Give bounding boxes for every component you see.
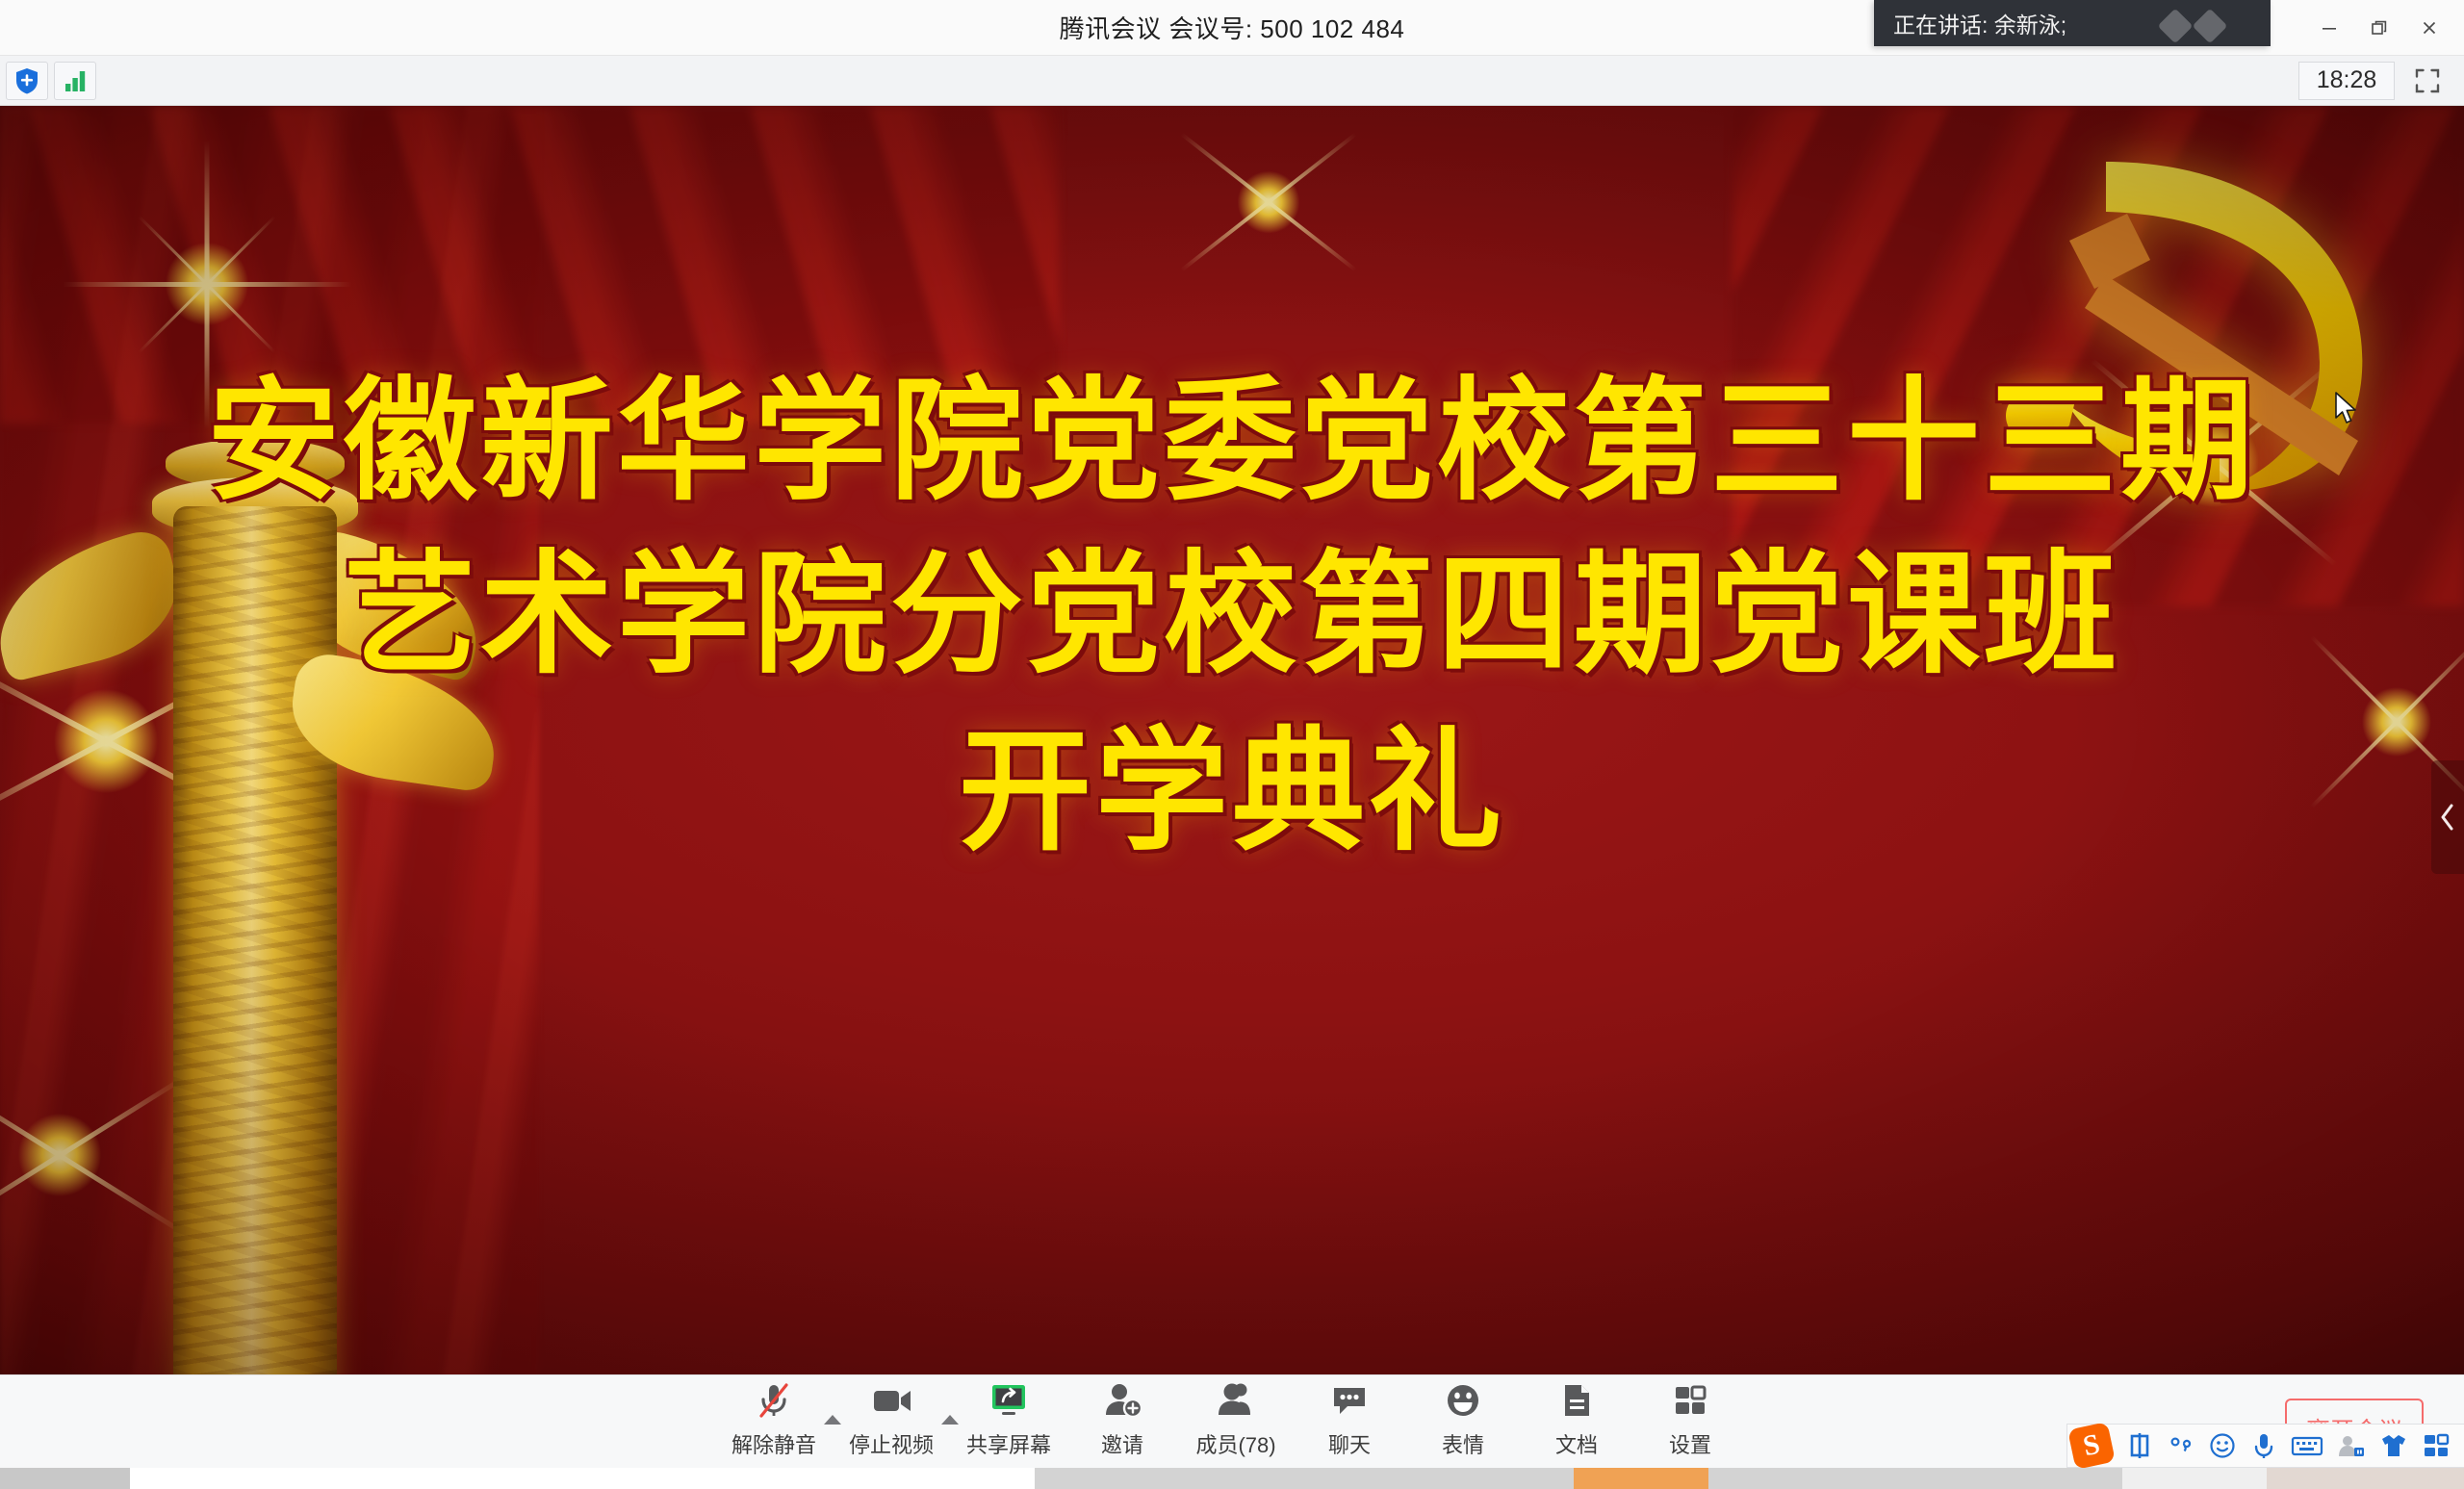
emoji-smile-icon: [1442, 1379, 1484, 1422]
close-button[interactable]: [2404, 3, 2454, 53]
taskbar-window-preview[interactable]: [130, 1468, 1035, 1489]
sub-toolbar-left: [0, 62, 96, 100]
video-camera-icon: [869, 1379, 913, 1422]
user-center-icon[interactable]: [2337, 1432, 2366, 1459]
tencent-meeting-logo: [2155, 4, 2242, 44]
side-panel-collapse-handle[interactable]: [2431, 760, 2464, 874]
toolbox-icon[interactable]: [2422, 1432, 2451, 1459]
restore-button[interactable]: [2354, 3, 2404, 53]
document-icon: [1555, 1379, 1598, 1422]
toolbar-item-unmute[interactable]: 解除静音: [730, 1379, 818, 1465]
taskbar-segment: [0, 1468, 130, 1489]
video-options-caret[interactable]: [936, 1413, 964, 1465]
sub-toolbar-right: 18:28: [2298, 62, 2464, 100]
shared-screen-stage[interactable]: 安徽新华学院党委党校第三十三期 艺术学院分党校第四期党课班 开学典礼: [0, 106, 2464, 1393]
toolbar-item-stop-video[interactable]: 停止视频: [847, 1379, 936, 1465]
toolbar-items: 解除静音 停止视频: [730, 1379, 1734, 1465]
signal-bars-icon: [62, 67, 89, 94]
window-controls: [2304, 0, 2454, 56]
toolbar-item-emoji[interactable]: 表情: [1419, 1379, 1507, 1465]
shield-plus-icon: [13, 66, 40, 95]
toolbar-label: 文档: [1555, 1428, 1598, 1459]
punctuation-icon[interactable]: [2168, 1432, 2194, 1459]
voice-input-icon[interactable]: [2250, 1431, 2277, 1460]
toolbar-item-share-screen[interactable]: 共享屏幕: [964, 1379, 1053, 1465]
toolbar-label: 解除静音: [731, 1428, 816, 1459]
mic-options-caret[interactable]: [818, 1413, 847, 1465]
minimize-icon: [2319, 17, 2340, 39]
meeting-clock: 18:28: [2298, 62, 2395, 100]
toolbar-label: 聊天: [1328, 1428, 1371, 1459]
taskbar-segment: [1035, 1468, 1574, 1489]
toolbar-item-invite[interactable]: 邀请: [1078, 1379, 1167, 1465]
taskbar-active-item[interactable]: [1574, 1468, 1708, 1489]
share-screen-icon: [987, 1379, 1031, 1422]
participants-icon: [1215, 1379, 1257, 1422]
toolbar-label: 停止视频: [849, 1428, 934, 1459]
taskbar-segment: [2122, 1468, 2267, 1489]
window-title: 腾讯会议 会议号: 500 102 484: [1060, 10, 1405, 45]
restore-icon: [2369, 17, 2390, 39]
mouse-cursor: [2334, 392, 2359, 426]
minimize-button[interactable]: [2304, 3, 2354, 53]
toolbar-label: 邀请: [1101, 1428, 1143, 1459]
toolbar-item-chat[interactable]: 聊天: [1305, 1379, 1394, 1465]
toolbar-label: 表情: [1442, 1428, 1484, 1459]
toolbar-label: 成员(78): [1195, 1428, 1275, 1459]
sogou-ime-toolbar[interactable]: S: [2066, 1424, 2464, 1468]
active-speaker-label: 正在讲话: 余新泳;: [1874, 7, 2066, 39]
chinese-mode-icon[interactable]: [2125, 1431, 2154, 1460]
fullscreen-button[interactable]: [2402, 62, 2452, 100]
settings-grid-icon: [1669, 1379, 1711, 1422]
caret-up-icon: [939, 1413, 961, 1426]
invite-person-icon: [1101, 1379, 1143, 1422]
close-icon: [2419, 17, 2440, 39]
meeting-sub-toolbar: 18:28: [0, 56, 2464, 106]
toolbar-item-settings[interactable]: 设置: [1646, 1379, 1734, 1465]
chat-bubble-icon: [1328, 1379, 1371, 1422]
microphone-muted-icon: [753, 1379, 795, 1422]
desktop-taskbar[interactable]: [0, 1468, 2464, 1489]
chevron-left-icon: [2437, 801, 2458, 834]
taskbar-segment: [1708, 1468, 2122, 1489]
toolbar-item-participants[interactable]: 成员(78): [1192, 1379, 1280, 1465]
toolbar-label: 共享屏幕: [966, 1428, 1051, 1459]
taskbar-segment: [2267, 1468, 2464, 1489]
emoji-icon[interactable]: [2208, 1431, 2237, 1460]
toolbar-label: 设置: [1669, 1428, 1711, 1459]
network-status-button[interactable]: [54, 62, 96, 100]
caret-up-icon: [822, 1413, 843, 1426]
active-speaker-badge: 正在讲话: 余新泳;: [1874, 0, 2271, 46]
fullscreen-icon: [2413, 66, 2442, 95]
stage-vignette: [0, 106, 2464, 1393]
security-button[interactable]: [6, 62, 48, 100]
toolbar-item-document[interactable]: 文档: [1532, 1379, 1621, 1465]
skin-icon[interactable]: [2379, 1431, 2408, 1460]
sogou-logo-icon[interactable]: S: [2067, 1422, 2116, 1470]
soft-keyboard-icon[interactable]: [2291, 1433, 2323, 1458]
slide-background: 安徽新华学院党委党校第三十三期 艺术学院分党校第四期党课班 开学典礼: [0, 106, 2464, 1393]
